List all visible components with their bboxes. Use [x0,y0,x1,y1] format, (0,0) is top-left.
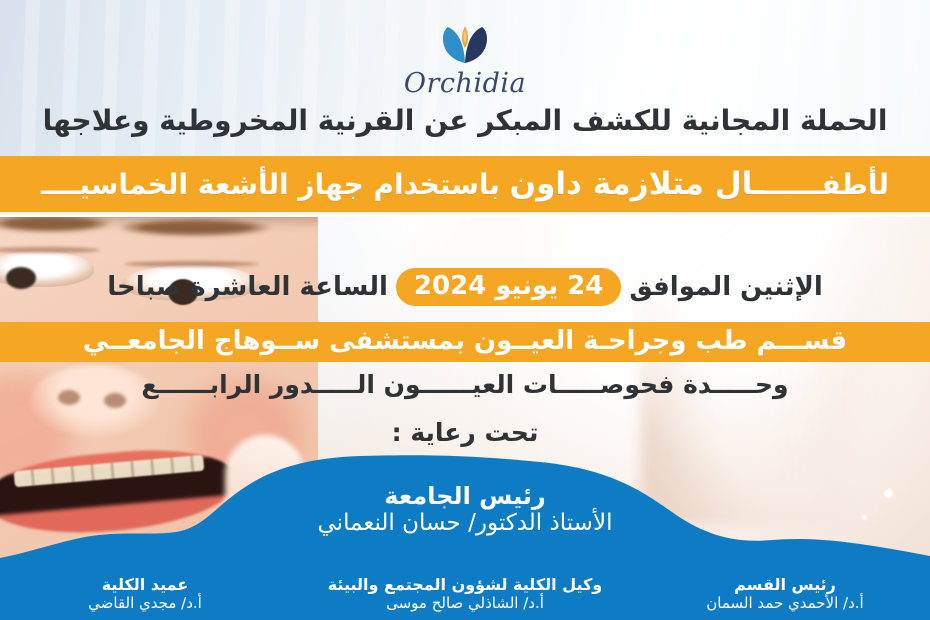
official-vice-dean: وكيل الكلية لشؤون المجتمع والبيئة أ.د/ ا… [315,575,615,612]
campaign-poster: Orchidia الحملة المجانية للكشف المبكر عن… [0,0,930,620]
eyebrow-left [0,215,110,232]
official-role: عميد الكلية [20,575,270,594]
officials-row: عميد الكلية أ.د/ مجدي القاضي وكيل الكلية… [0,575,930,612]
eyebrow-right [120,219,270,236]
official-role: وكيل الكلية لشؤون المجتمع والبيئة [315,575,615,594]
official-dean: عميد الكلية أ.د/ مجدي القاضي [20,575,270,612]
event-date-line: الإثنين الموافق 24 يونيو 2024 الساعة الع… [0,262,930,312]
department-line: قســـم طب وجراحـة العيــون بمستشفى ســوه… [0,322,930,362]
president-role: رئيس الجامعة [0,483,930,511]
banner-cream-strip [0,212,930,217]
date-badge: 24 يونيو 2024 [396,268,621,306]
unit-location-line: وحـــــدة فحوصـــــات العيــــــون الـــ… [0,370,930,399]
official-name: أ.د/ مجدي القاضي [20,594,270,612]
date-prefix-label: الإثنين الموافق [629,274,823,300]
official-name: أ.د/ الأحمدي حمد السمان [660,594,910,612]
event-details: الإثنين الموافق 24 يونيو 2024 الساعة الع… [0,262,930,399]
banner-prefix: لأطفــــــ [764,168,889,201]
orange-banner-text: لأطفـــــــال متلازمة داون باستخدام جهاز… [41,166,889,202]
president-name: الأستاذ الدكتور/ حسان النعماني [0,510,930,538]
official-head-of-department: رئيس القسم أ.د/ الأحمدي حمد السمان [660,575,910,612]
banner-emphasis: ـال متلازمة داون [510,166,764,202]
date-suffix-label: الساعة العاشرة صباحا [107,274,388,300]
patron-president: رئيس الجامعة الأستاذ الدكتور/ حسان النعم… [0,483,930,538]
official-role: رئيس القسم [660,575,910,594]
banner-underline [0,205,930,208]
page-title: الحملة المجانية للكشف المبكر عن القرنية … [0,104,930,137]
brand-logo: Orchidia [0,18,930,97]
official-name: أ.د/ الشاذلي صالح موسى [315,594,615,612]
orange-banner: لأطفـــــــال متلازمة داون باستخدام جهاز… [0,156,930,212]
banner-suffix: باستخدام جهاز الأشعة الخماسيــــ [41,168,510,201]
brand-wordmark: Orchidia [404,70,526,97]
lotus-flower-icon [435,18,495,68]
eyelid-left [0,247,100,253]
